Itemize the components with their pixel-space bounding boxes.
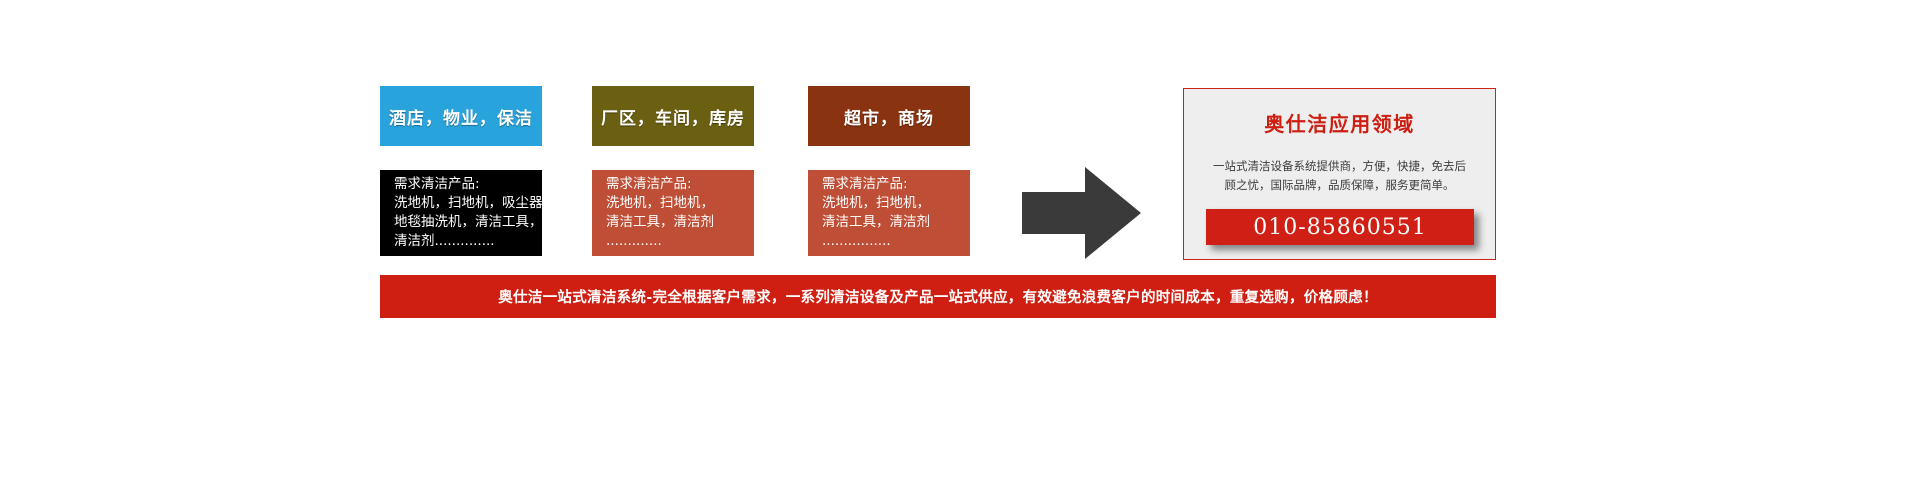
detail-line: 洗地机，扫地机，吸尘器 (394, 194, 530, 213)
category-header-label: 超市，商场 (844, 104, 934, 129)
panel-description: 一站式清洁设备系统提供商，方便，快捷，免去后顾之忧，国际品牌，品质保障，服务更简… (1208, 157, 1472, 195)
detail-line: 需求清洁产品: (394, 175, 530, 194)
detail-line: 清洁剂.............. (394, 232, 530, 251)
bottom-slogan-banner: 奥仕洁一站式清洁系统-完全根据客户需求，一系列清洁设备及产品一站式供应，有效避免… (380, 275, 1496, 318)
phone-number-button[interactable]: 010-85860551 (1206, 209, 1474, 245)
detail-line: 洗地机，扫地机， (822, 194, 958, 213)
panel-title: 奥仕洁应用领域 (1264, 108, 1415, 137)
detail-line: 清洁工具，清洁剂 (822, 213, 958, 232)
category-detail-factory: 需求清洁产品: 洗地机，扫地机， 清洁工具，清洁剂 ............. (592, 170, 754, 256)
category-header-supermarket[interactable]: 超市，商场 (808, 86, 970, 146)
bottom-slogan-text: 奥仕洁一站式清洁系统-完全根据客户需求，一系列清洁设备及产品一站式供应，有效避免… (498, 286, 1378, 307)
promo-banner-canvas: 酒店，物业，保洁 厂区，车间，库房 超市，商场 需求清洁产品: 洗地机，扫地机，… (0, 0, 1920, 500)
detail-line: 需求清洁产品: (606, 175, 742, 194)
category-header-hotel[interactable]: 酒店，物业，保洁 (380, 86, 542, 146)
application-fields-panel: 奥仕洁应用领域 一站式清洁设备系统提供商，方便，快捷，免去后顾之忧，国际品牌，品… (1183, 88, 1496, 260)
category-detail-supermarket: 需求清洁产品: 洗地机，扫地机， 清洁工具，清洁剂 ..............… (808, 170, 970, 256)
detail-line: 洗地机，扫地机， (606, 194, 742, 213)
detail-line: ................ (822, 232, 958, 251)
arrow-right-icon (1022, 165, 1142, 261)
category-header-label: 酒店，物业，保洁 (389, 104, 533, 129)
detail-line: ............. (606, 232, 742, 251)
detail-line: 清洁工具，清洁剂 (606, 213, 742, 232)
detail-line: 需求清洁产品: (822, 175, 958, 194)
category-detail-hotel: 需求清洁产品: 洗地机，扫地机，吸尘器 地毯抽洗机，清洁工具， 清洁剂.....… (380, 170, 542, 256)
category-header-factory[interactable]: 厂区，车间，库房 (592, 86, 754, 146)
detail-line: 地毯抽洗机，清洁工具， (394, 213, 530, 232)
category-header-label: 厂区，车间，库房 (601, 104, 745, 129)
